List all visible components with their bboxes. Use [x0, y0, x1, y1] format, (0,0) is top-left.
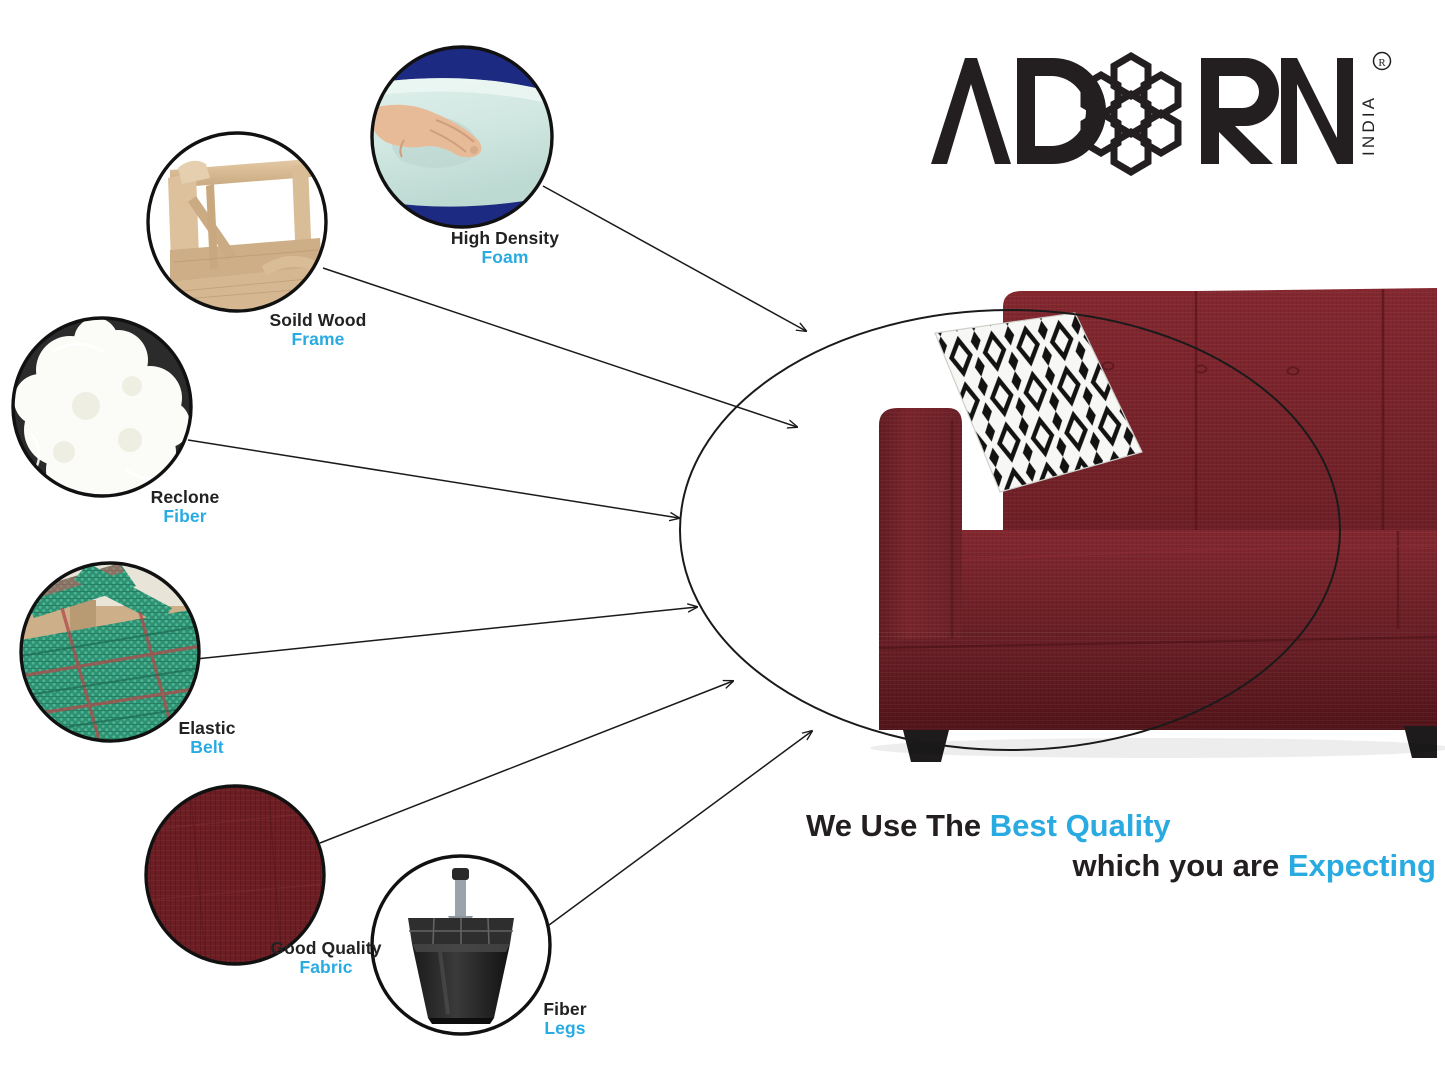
label-line-1: Fiber: [500, 1000, 630, 1019]
tagline-line-1: We Use The Best Quality: [806, 806, 1436, 846]
tagline-line-1-plain: We Use The: [806, 808, 990, 843]
svg-text:INDIA: INDIA: [1359, 95, 1378, 156]
label-line-1: Soild Wood: [228, 311, 408, 330]
brand-logo: INDIA R: [925, 46, 1395, 176]
label-reclone-fiber: Reclone Fiber: [115, 488, 255, 526]
label-good-quality-fabric: Good Quality Fabric: [246, 939, 406, 977]
tagline-line-1-highlight: Best Quality: [990, 808, 1171, 843]
label-fiber-legs: Fiber Legs: [500, 1000, 630, 1038]
tagline-line-2-highlight: Expecting: [1288, 848, 1436, 883]
label-line-2: Fabric: [246, 958, 406, 977]
label-line-1: Reclone: [115, 488, 255, 507]
logo-registered-icon: R: [1374, 53, 1391, 70]
thumb-solid-wood-frame: [148, 133, 328, 313]
tagline-line-2: which you are Expecting: [806, 846, 1436, 886]
logo-letter-n: [1281, 58, 1353, 164]
label-elastic-belt: Elastic Belt: [137, 719, 277, 757]
thumb-elastic-belt: [21, 563, 201, 743]
label-line-2: Frame: [228, 330, 408, 349]
tagline: We Use The Best Quality which you are Ex…: [806, 806, 1436, 885]
label-line-2: Legs: [500, 1019, 630, 1038]
label-solid-wood-frame: Soild Wood Frame: [228, 311, 408, 349]
label-line-2: Belt: [137, 738, 277, 757]
logo-india-text: INDIA: [1359, 95, 1378, 156]
logo-honeycomb-icon: [1084, 56, 1178, 172]
thumb-reclone-fiber: [13, 318, 193, 510]
tagline-line-2-plain: which you are: [1073, 848, 1288, 883]
label-high-density-foam: High Density Foam: [415, 229, 595, 267]
logo-letter-r: [1201, 58, 1279, 164]
label-line-2: Fiber: [115, 507, 255, 526]
infographic-canvas: High Density Foam Soild Wood Frame Reclo…: [0, 0, 1445, 1084]
svg-text:R: R: [1378, 57, 1386, 69]
label-line-1: Elastic: [137, 719, 277, 738]
label-line-1: High Density: [415, 229, 595, 248]
label-line-2: Foam: [415, 248, 595, 267]
thumb-high-density-foam: [372, 47, 552, 227]
label-line-1: Good Quality: [246, 939, 406, 958]
logo-letter-a: [931, 58, 1011, 164]
